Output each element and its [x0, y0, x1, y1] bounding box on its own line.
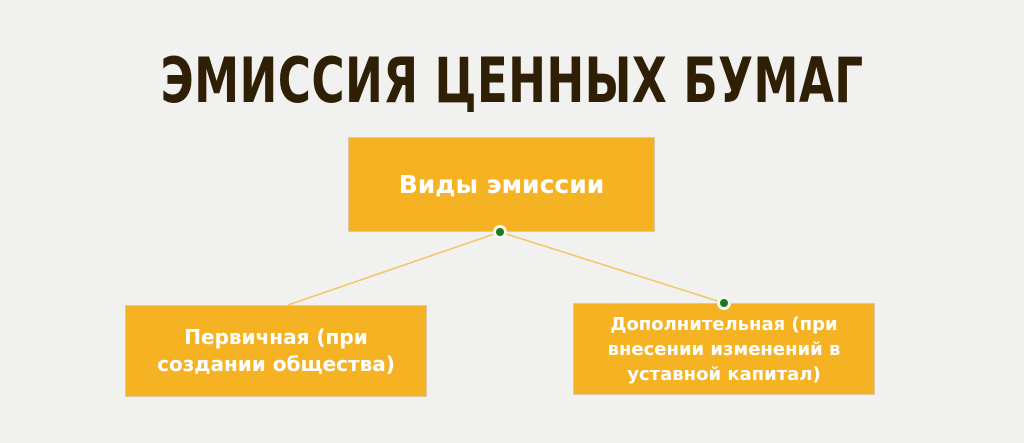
node-child-additional-label: Дополнительная (при внесении изменений в… [574, 312, 874, 387]
connector-junction-dot-root [493, 225, 507, 239]
node-child-additional[interactable]: Дополнительная (при внесении изменений в… [573, 303, 875, 395]
node-root-label: Виды эмиссии [349, 170, 654, 200]
node-child-primary-label: Первичная (при создании общества) [126, 324, 426, 378]
page-title: ЭМИССИЯ ЦЕННЫХ БУМАГ [138, 48, 886, 114]
connector-root-to-additional [500, 232, 724, 303]
node-child-primary[interactable]: Первичная (при создании общества) [125, 305, 427, 397]
connector-root-to-primary [288, 232, 500, 305]
connector-junction-dot-additional [717, 296, 731, 310]
node-root-vidy-emissii[interactable]: Виды эмиссии [348, 137, 655, 232]
slide-canvas: ЭМИССИЯ ЦЕННЫХ БУМАГ Виды эмиссии Первич… [0, 0, 1024, 443]
